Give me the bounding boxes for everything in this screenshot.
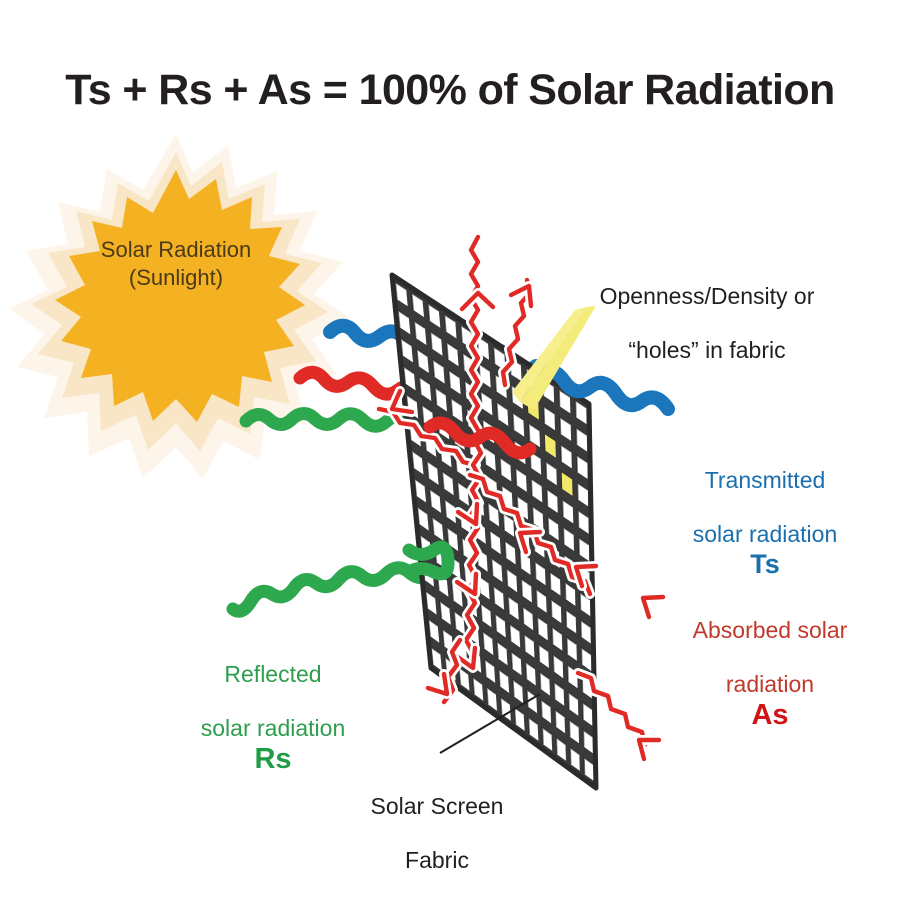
transmitted-label: Transmitted solar radiation Ts	[640, 440, 890, 607]
absorbed-label: Absorbed solar radiation As	[645, 590, 895, 759]
transmitted-symbol: Ts	[640, 549, 890, 581]
transmitted-label-line2: solar radiation	[693, 521, 837, 547]
diagram-canvas: Ts + Rs + As = 100% of Solar Radiation S…	[0, 0, 900, 900]
reflected-label-line1: Reflected	[224, 661, 321, 687]
openness-label-line1: Openness/Density or	[600, 283, 815, 309]
reflected-label-line2: solar radiation	[201, 715, 345, 741]
openness-label: Openness/Density or “holes” in fabric	[528, 256, 886, 364]
absorbed-symbol: As	[645, 699, 895, 733]
absorbed-label-line2: radiation	[726, 671, 814, 697]
sun-label-line1: Solar Radiation	[101, 237, 251, 262]
absorbed-label-line1: Absorbed solar	[693, 617, 848, 643]
fabric-label-line2: Fabric	[405, 847, 469, 873]
transmitted-label-line1: Transmitted	[705, 467, 826, 493]
sun-graphic: Solar Radiation (Sunlight)	[9, 134, 350, 479]
fabric-label: Solar Screen Fabric	[322, 766, 552, 874]
sun-label-line2: (Sunlight)	[129, 265, 223, 290]
openness-label-line2: “holes” in fabric	[628, 337, 785, 363]
fabric-label-line1: Solar Screen	[371, 793, 504, 819]
